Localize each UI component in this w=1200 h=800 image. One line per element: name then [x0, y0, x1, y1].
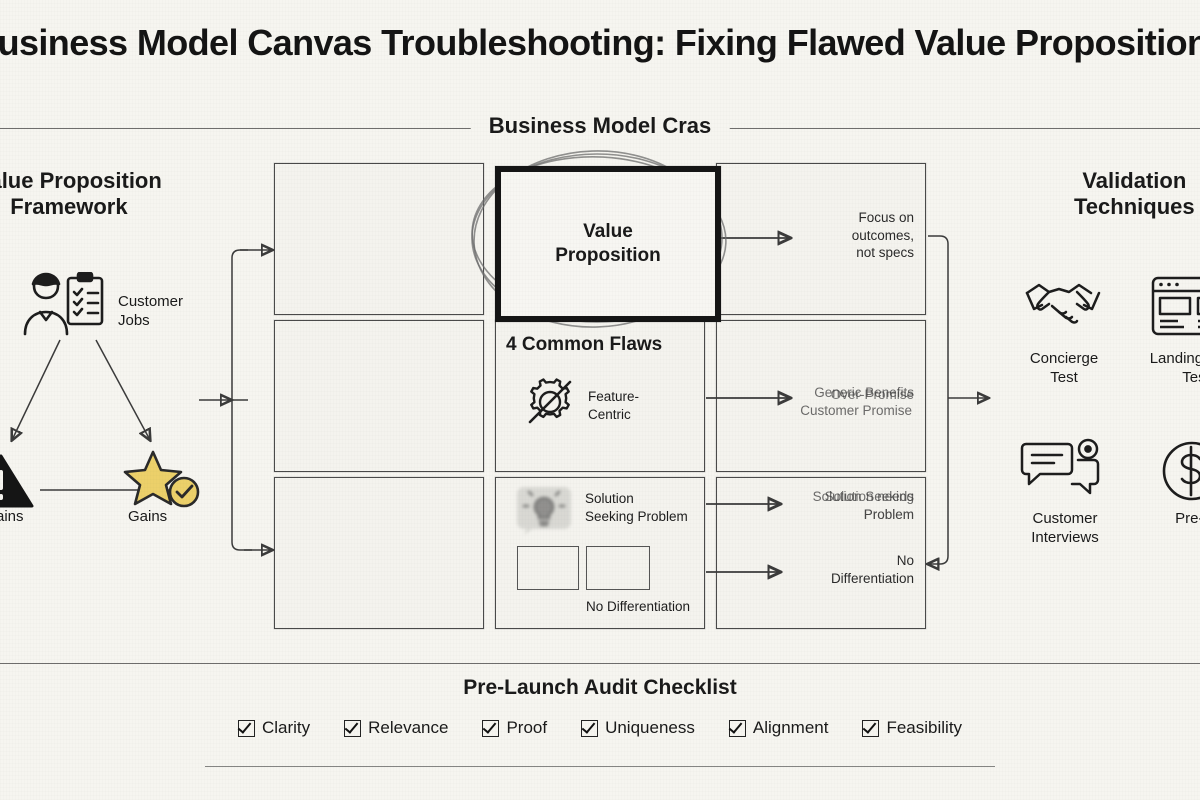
- checklist-item-label: Uniqueness: [605, 718, 695, 738]
- outcome-label-focus-on-outcomes: Focus onoutcomes,not specs: [790, 209, 914, 262]
- checklist-item-label: Proof: [506, 718, 547, 738]
- checkbox-checked-icon[interactable]: [482, 720, 499, 737]
- checkbox-checked-icon[interactable]: [862, 720, 879, 737]
- empty-box-icon-1[interactable]: [517, 546, 579, 590]
- outcome-label-over-promise: Over-Promise: [790, 386, 914, 404]
- flaw-label-solution-seeking-problem: SolutionSeeking Problem: [585, 490, 688, 525]
- left-panel-title-line1: Value Proposition: [0, 168, 162, 194]
- warning-triangle-icon: [0, 452, 36, 512]
- outcome-label-no-differentiation: NoDifferentiation: [780, 552, 914, 587]
- checklist-item-label: Relevance: [368, 718, 448, 738]
- browser-window-icon: [1150, 275, 1200, 337]
- star-check-icon: [122, 448, 206, 510]
- speech-bubbles-icon: [1018, 438, 1106, 500]
- right-item-label-customer-interviews: CustomerInterviews: [1010, 510, 1120, 548]
- handshake-icon: [1022, 275, 1104, 335]
- no-differentiation-text: No Differentiation: [586, 598, 690, 616]
- right-panel-title: Validation Techniques: [1074, 168, 1195, 220]
- value-proposition-label: Value Proposition: [555, 220, 661, 268]
- checklist-item-label: Clarity: [262, 718, 310, 738]
- empty-box-icon-2[interactable]: [586, 546, 650, 590]
- checklist-item-label: Feasibility: [886, 718, 962, 738]
- flaw-label-no-differentiation: No Differentiation: [586, 598, 690, 616]
- right-panel-title-line2: Techniques: [1074, 194, 1195, 220]
- checkbox-checked-icon[interactable]: [581, 720, 598, 737]
- lightbulb-icon: [514, 484, 574, 536]
- left-panel-title: Value Proposition Framework: [0, 168, 162, 220]
- checkbox-checked-icon[interactable]: [344, 720, 361, 737]
- checklist-item-proof[interactable]: Proof: [482, 718, 547, 738]
- common-flaws-heading: 4 Common Flaws: [506, 334, 662, 356]
- bottom-divider: [0, 663, 1200, 664]
- over-promise-line: Over-Promise: [831, 387, 914, 402]
- checklist-title: Pre-Launch Audit Checklist: [463, 676, 736, 700]
- left-panel-title-line2: Framework: [0, 194, 162, 220]
- checkbox-checked-icon[interactable]: [729, 720, 746, 737]
- flaw-label-feature-centric: Feature-Centric: [588, 388, 639, 423]
- pains-label: Pains: [0, 508, 24, 525]
- right-item-label-landing-page-test: Landing PageTest: [1144, 350, 1200, 388]
- checklist: Clarity Relevance Proof Uniqueness Align…: [0, 718, 1200, 738]
- outcome-label-generic-benefits-echo: Customer Promise: [788, 402, 912, 420]
- pre-sales-text: Pre-Sales: [1156, 510, 1200, 529]
- checklist-item-relevance[interactable]: Relevance: [344, 718, 448, 738]
- outcome-label-solution-seeking-echo: Solution needsProblem: [782, 488, 914, 523]
- canvas-cell-empty-1[interactable]: [274, 163, 484, 315]
- canvas-cell-empty-2[interactable]: [274, 320, 484, 472]
- dollar-coin-icon: [1160, 440, 1200, 502]
- left-item-label-gains: Gains: [128, 508, 167, 527]
- canvas-cell-empty-3[interactable]: [274, 477, 484, 629]
- canvas-section-header: Business Model Cras: [471, 113, 730, 139]
- page-title: Business Model Canvas Troubleshooting: F…: [0, 22, 1200, 64]
- checklist-item-feasibility[interactable]: Feasibility: [862, 718, 962, 738]
- checklist-underline: [205, 766, 995, 767]
- left-item-label-pains: Pains: [0, 508, 24, 527]
- right-item-label-pre-sales: Pre-Sales: [1156, 510, 1200, 529]
- right-item-label-concierge-test: ConciergeTest: [1012, 350, 1116, 388]
- right-panel-title-line1: Validation: [1074, 168, 1195, 194]
- checklist-item-uniqueness[interactable]: Uniqueness: [581, 718, 695, 738]
- checkbox-checked-icon[interactable]: [238, 720, 255, 737]
- checklist-item-label: Alignment: [753, 718, 829, 738]
- person-clipboard-icon: [12, 272, 112, 338]
- infographic-canvas: Business Model Canvas Troubleshooting: F…: [0, 0, 1200, 800]
- left-item-label-customer-jobs: CustomerJobs: [118, 293, 183, 331]
- gear-crossed-out-icon: [523, 375, 577, 429]
- checklist-item-alignment[interactable]: Alignment: [729, 718, 829, 738]
- canvas-cell-value-proposition[interactable]: Value Proposition: [495, 166, 721, 322]
- gains-label: Gains: [128, 508, 167, 525]
- checklist-item-clarity[interactable]: Clarity: [238, 718, 310, 738]
